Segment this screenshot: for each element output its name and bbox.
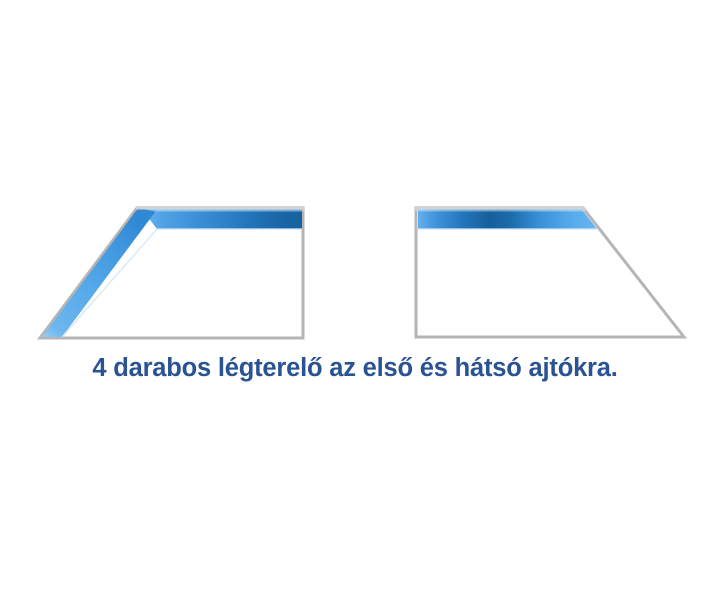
rear-deflector-band-sheen — [418, 209, 584, 212]
caption-layer: 4 darabos légterelő az első és hátsó ajt… — [0, 352, 710, 384]
rear-deflector-top-band — [418, 210, 597, 230]
product-caption: 4 darabos légterelő az első és hátsó ajt… — [92, 352, 617, 384]
front-door-deflector — [40, 206, 304, 338]
deflector-illustration — [0, 0, 710, 613]
rear-door-deflector — [415, 206, 684, 337]
product-figure: 4 darabos légterelő az első és hátsó ajt… — [0, 0, 710, 613]
front-deflector-band-sheen — [140, 209, 302, 212]
front-deflector-top-band — [142, 210, 302, 230]
